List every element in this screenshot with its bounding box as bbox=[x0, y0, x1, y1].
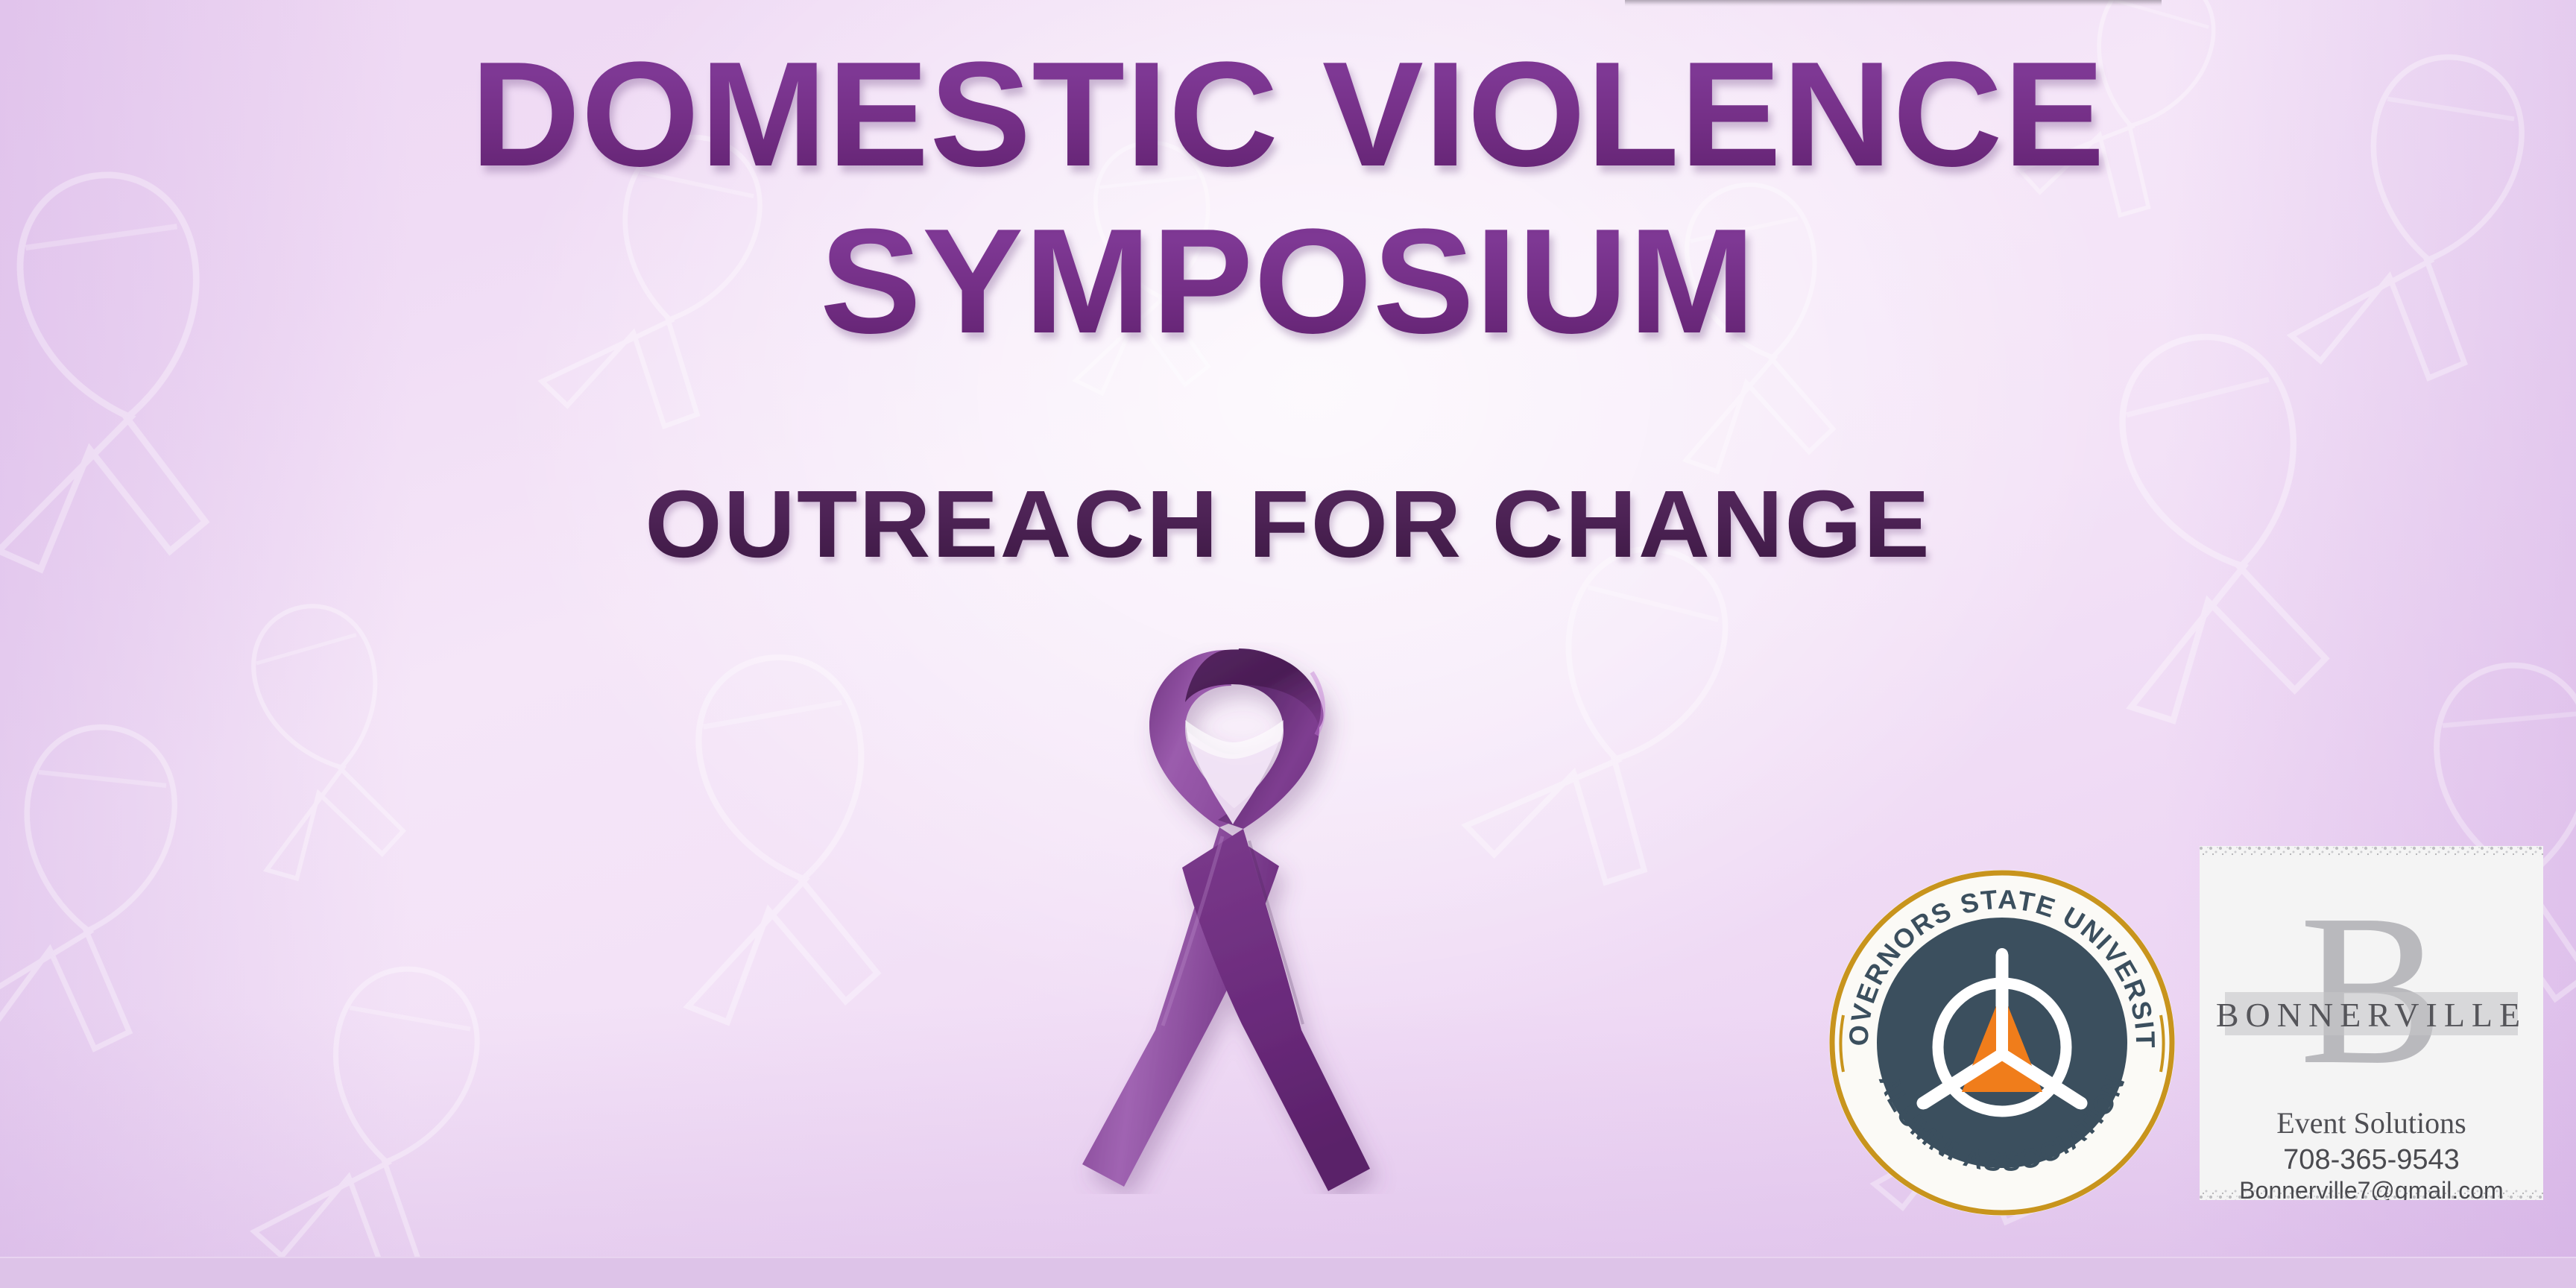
bonnerville-phone: 708-365-9543 bbox=[2200, 1144, 2543, 1176]
awareness-ribbon-icon bbox=[1066, 643, 1401, 1194]
page-title-line-2: SYMPOSIUM bbox=[0, 207, 2576, 356]
background-vignette-left bbox=[0, 0, 412, 1288]
poster-canvas: DOMESTIC VIOLENCE SYMPOSIUM OUTREACH FOR… bbox=[0, 0, 2576, 1288]
governors-state-university-seal-icon: GOVERNORS STATE UNIVERSITY ALUMNI ASSOCI… bbox=[1825, 866, 2179, 1219]
bonnerville-logo-card: B BONNERVILLE Event Solutions 708-365-95… bbox=[2200, 846, 2543, 1200]
title-block-2: SYMPOSIUM bbox=[0, 207, 2576, 356]
bonnerville-tagline: Event Solutions bbox=[2200, 1105, 2543, 1140]
title-block: DOMESTIC VIOLENCE bbox=[0, 40, 2576, 189]
page-subtitle: OUTREACH FOR CHANGE bbox=[0, 477, 2576, 572]
bonnerville-name: BONNERVILLE bbox=[2200, 995, 2543, 1035]
top-edge-shadow bbox=[1625, 0, 2162, 7]
subtitle-block: OUTREACH FOR CHANGE bbox=[0, 477, 2576, 572]
bottom-edge-band bbox=[0, 1257, 2576, 1288]
bonnerville-email: Bonnerville7@gmail.com bbox=[2200, 1177, 2543, 1200]
bonnerville-monogram: B bbox=[2200, 882, 2543, 1098]
page-title-line-1: DOMESTIC VIOLENCE bbox=[0, 40, 2576, 189]
